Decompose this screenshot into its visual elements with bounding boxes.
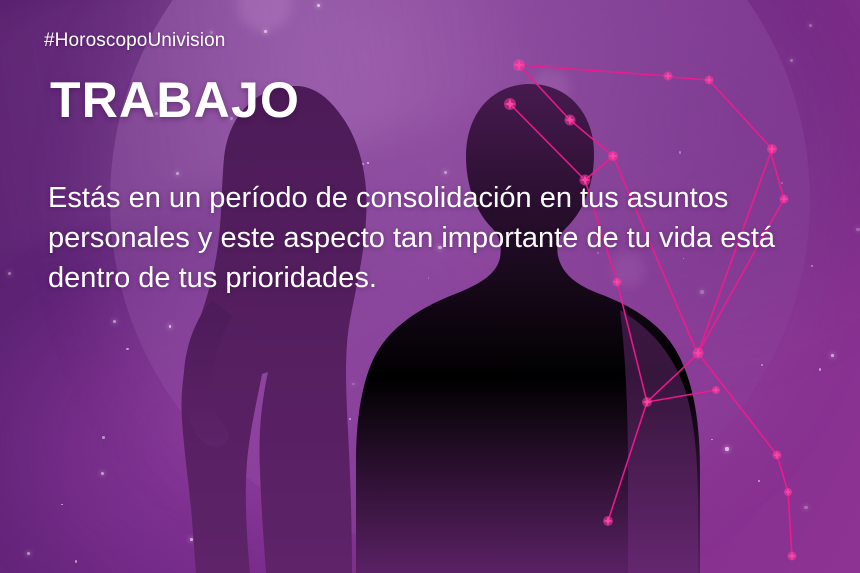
page-title: TRABAJO	[50, 74, 820, 126]
horoscope-body-text: Estás en un período de consolidación en …	[48, 178, 820, 298]
text-content: #HoroscopoUnivision TRABAJO Estás en un …	[0, 0, 860, 328]
hashtag-label: #HoroscopoUnivision	[44, 30, 820, 52]
horoscope-card: #HoroscopoUnivision TRABAJO Estás en un …	[0, 0, 860, 573]
